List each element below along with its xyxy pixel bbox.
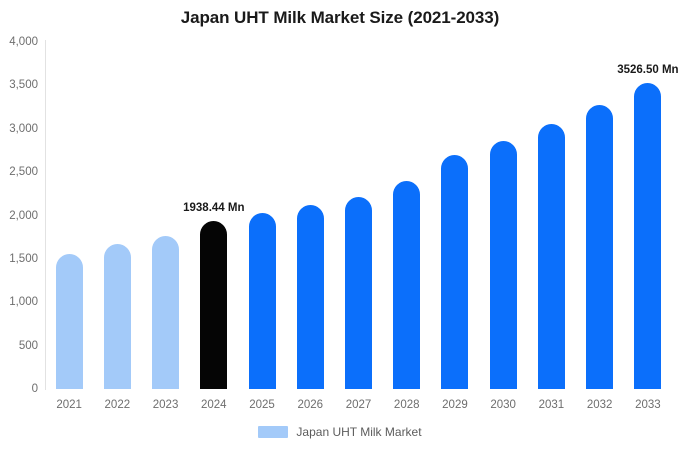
y-axis-tick-label: 4,000 <box>0 36 38 48</box>
bar-slot-2032[interactable] <box>586 42 613 389</box>
bar-2025[interactable] <box>249 213 276 389</box>
x-axis-tick-label-2031: 2031 <box>527 399 575 411</box>
y-axis-tick-label: 3,000 <box>0 123 38 135</box>
bar-slot-2023[interactable] <box>152 42 179 389</box>
bar-slot-2030[interactable] <box>490 42 517 389</box>
bar-2024[interactable] <box>200 221 227 389</box>
chart-title: Japan UHT Milk Market Size (2021-2033) <box>0 8 680 28</box>
y-axis-tick-label: 500 <box>0 340 38 352</box>
bar-2022[interactable] <box>104 244 131 389</box>
legend-label-japan-uht-milk-market: Japan UHT Milk Market <box>296 425 421 439</box>
x-axis-tick-label-2022: 2022 <box>93 399 141 411</box>
x-axis-tick-label-2021: 2021 <box>45 399 93 411</box>
bar-slot-2031[interactable] <box>538 42 565 389</box>
legend-swatch-japan-uht-milk-market <box>258 426 288 438</box>
x-axis-tick-label-2025: 2025 <box>238 399 286 411</box>
bar-2031[interactable] <box>538 124 565 389</box>
x-axis-tick-label-2033: 2033 <box>624 399 672 411</box>
bar-slot-2029[interactable] <box>441 42 468 389</box>
bar-2033[interactable] <box>634 83 661 389</box>
bar-value-label-2024: 1938.44 Mn <box>183 202 244 214</box>
x-axis-tick-label-2027: 2027 <box>334 399 382 411</box>
x-axis-tick-label-2029: 2029 <box>431 399 479 411</box>
y-axis-tick-label: 2,500 <box>0 166 38 178</box>
bar-slot-2027[interactable] <box>345 42 372 389</box>
bar-slot-2028[interactable] <box>393 42 420 389</box>
bar-2029[interactable] <box>441 155 468 389</box>
bar-2021[interactable] <box>56 254 83 389</box>
bar-2030[interactable] <box>490 141 517 389</box>
x-axis-tick-label-2028: 2028 <box>383 399 431 411</box>
bar-slot-2022[interactable] <box>104 42 131 389</box>
bar-slot-2024[interactable] <box>200 42 227 389</box>
bar-slot-2021[interactable] <box>56 42 83 389</box>
bar-2027[interactable] <box>345 197 372 389</box>
bar-2023[interactable] <box>152 236 179 389</box>
y-axis-tick-label: 2,000 <box>0 210 38 222</box>
chart-container: Japan UHT Milk Market Size (2021-2033) 0… <box>0 0 680 450</box>
bar-slot-2026[interactable] <box>297 42 324 389</box>
x-axis-tick-label-2024: 2024 <box>190 399 238 411</box>
bar-2028[interactable] <box>393 181 420 389</box>
x-axis-tick-label-2030: 2030 <box>479 399 527 411</box>
bar-slot-2033[interactable] <box>634 42 661 389</box>
y-axis-tick-label: 1,000 <box>0 296 38 308</box>
bar-2032[interactable] <box>586 105 613 389</box>
x-axis-tick-label-2032: 2032 <box>576 399 624 411</box>
y-axis-tick-label: 3,500 <box>0 79 38 91</box>
bar-2026[interactable] <box>297 205 324 389</box>
x-axis-tick-label-2023: 2023 <box>141 399 189 411</box>
plot-area: 1938.44 Mn3526.50 Mn <box>45 42 672 389</box>
bar-value-label-2033: 3526.50 Mn <box>617 64 678 76</box>
bar-slot-2025[interactable] <box>249 42 276 389</box>
x-axis-tick-label-2026: 2026 <box>286 399 334 411</box>
y-axis-tick-label: 0 <box>0 383 38 395</box>
chart-legend: Japan UHT Milk Market <box>0 425 680 439</box>
y-axis-tick-label: 1,500 <box>0 253 38 265</box>
